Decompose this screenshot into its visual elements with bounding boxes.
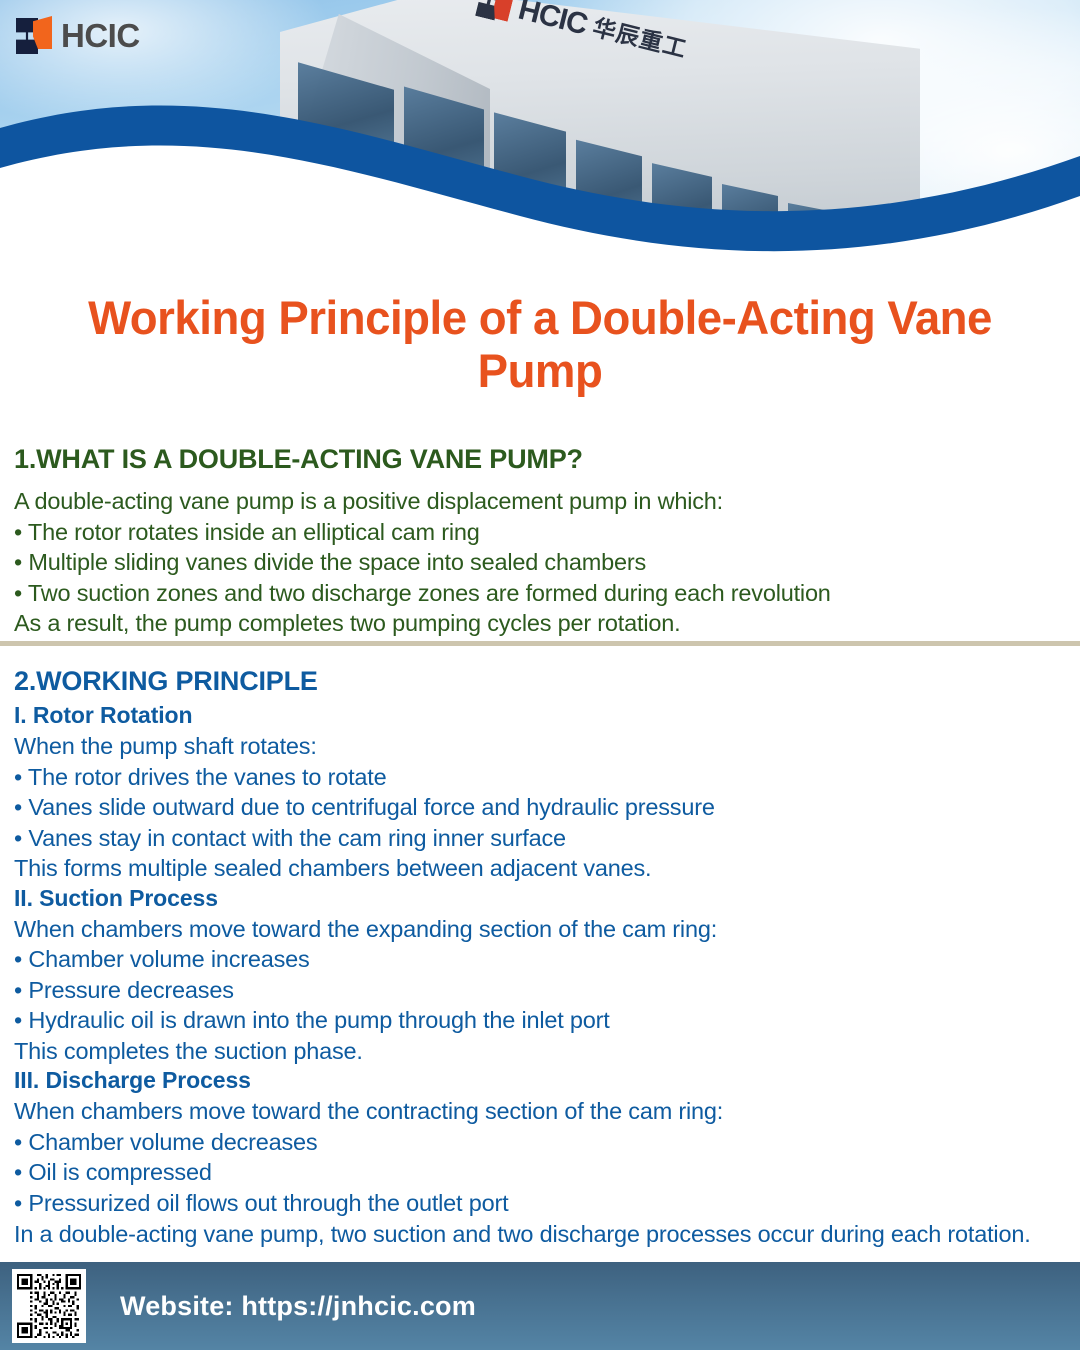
section2-heading: 2.WORKING PRINCIPLE bbox=[14, 666, 1066, 696]
block-line: In a double-acting vane pump, two suctio… bbox=[14, 1219, 1066, 1250]
section-working-principle: 2.WORKING PRINCIPLE I. Rotor Rotation Wh… bbox=[14, 666, 1066, 1249]
poster-page: HCIC 华辰重工 HCIC Working Principle of a Do… bbox=[0, 0, 1080, 1350]
hcic-logo-icon bbox=[16, 16, 52, 54]
section-divider bbox=[0, 641, 1080, 646]
footer-bar: Website: https://jnhcic.com bbox=[0, 1262, 1080, 1350]
window-panel bbox=[494, 112, 566, 249]
brand-logo: HCIC bbox=[16, 16, 140, 54]
block-line: • Chamber volume decreases bbox=[14, 1127, 1066, 1158]
section1-heading: 1.WHAT IS A DOUBLE-ACTING VANE PUMP? bbox=[14, 444, 1066, 474]
block-subheading: III. Discharge Process bbox=[14, 1066, 1066, 1096]
block-rotor-rotation: I. Rotor Rotation When the pump shaft ro… bbox=[14, 701, 1066, 884]
hero-banner: HCIC 华辰重工 HCIC bbox=[0, 0, 1080, 265]
window-panel bbox=[652, 163, 712, 265]
window-panel bbox=[788, 203, 840, 265]
section1-line: • Multiple sliding vanes divide the spac… bbox=[14, 547, 1066, 578]
window-panel bbox=[404, 87, 484, 232]
block-line: • Vanes stay in contact with the cam rin… bbox=[14, 823, 1066, 854]
block-subheading: II. Suction Process bbox=[14, 884, 1066, 914]
page-title: Working Principle of a Double-Acting Van… bbox=[65, 292, 1016, 397]
block-suction-process: II. Suction Process When chambers move t… bbox=[14, 884, 1066, 1067]
block-line: • Pressurized oil flows out through the … bbox=[14, 1188, 1066, 1219]
section1-line: • Two suction zones and two discharge zo… bbox=[14, 578, 1066, 609]
factory-building-photo: HCIC 华辰重工 bbox=[280, 0, 920, 265]
block-subheading: I. Rotor Rotation bbox=[14, 701, 1066, 731]
block-line: When chambers move toward the contractin… bbox=[14, 1096, 1066, 1127]
brand-name: HCIC bbox=[61, 19, 140, 52]
block-line: • The rotor drives the vanes to rotate bbox=[14, 762, 1066, 793]
block-line: • Chamber volume increases bbox=[14, 944, 1066, 975]
block-line: • Hydraulic oil is drawn into the pump t… bbox=[14, 1005, 1066, 1036]
block-line: When chambers move toward the expanding … bbox=[14, 914, 1066, 945]
block-line: • Oil is compressed bbox=[14, 1157, 1066, 1188]
block-line: This completes the suction phase. bbox=[14, 1036, 1066, 1067]
section-what-is: 1.WHAT IS A DOUBLE-ACTING VANE PUMP? A d… bbox=[14, 444, 1066, 639]
block-line: When the pump shaft rotates: bbox=[14, 731, 1066, 762]
window-panel bbox=[722, 184, 778, 265]
section1-line: A double-acting vane pump is a positive … bbox=[14, 486, 1066, 517]
qr-code-icon[interactable] bbox=[12, 1269, 86, 1343]
website-link[interactable]: Website: https://jnhcic.com bbox=[120, 1293, 476, 1320]
block-line: • Vanes slide outward due to centrifugal… bbox=[14, 792, 1066, 823]
block-discharge-process: III. Discharge Process When chambers mov… bbox=[14, 1066, 1066, 1249]
window-panel bbox=[576, 140, 642, 265]
block-line: This forms multiple sealed chambers betw… bbox=[14, 853, 1066, 884]
section1-line: • The rotor rotates inside an elliptical… bbox=[14, 517, 1066, 548]
section1-line: As a result, the pump completes two pump… bbox=[14, 608, 1066, 639]
block-line: • Pressure decreases bbox=[14, 975, 1066, 1006]
